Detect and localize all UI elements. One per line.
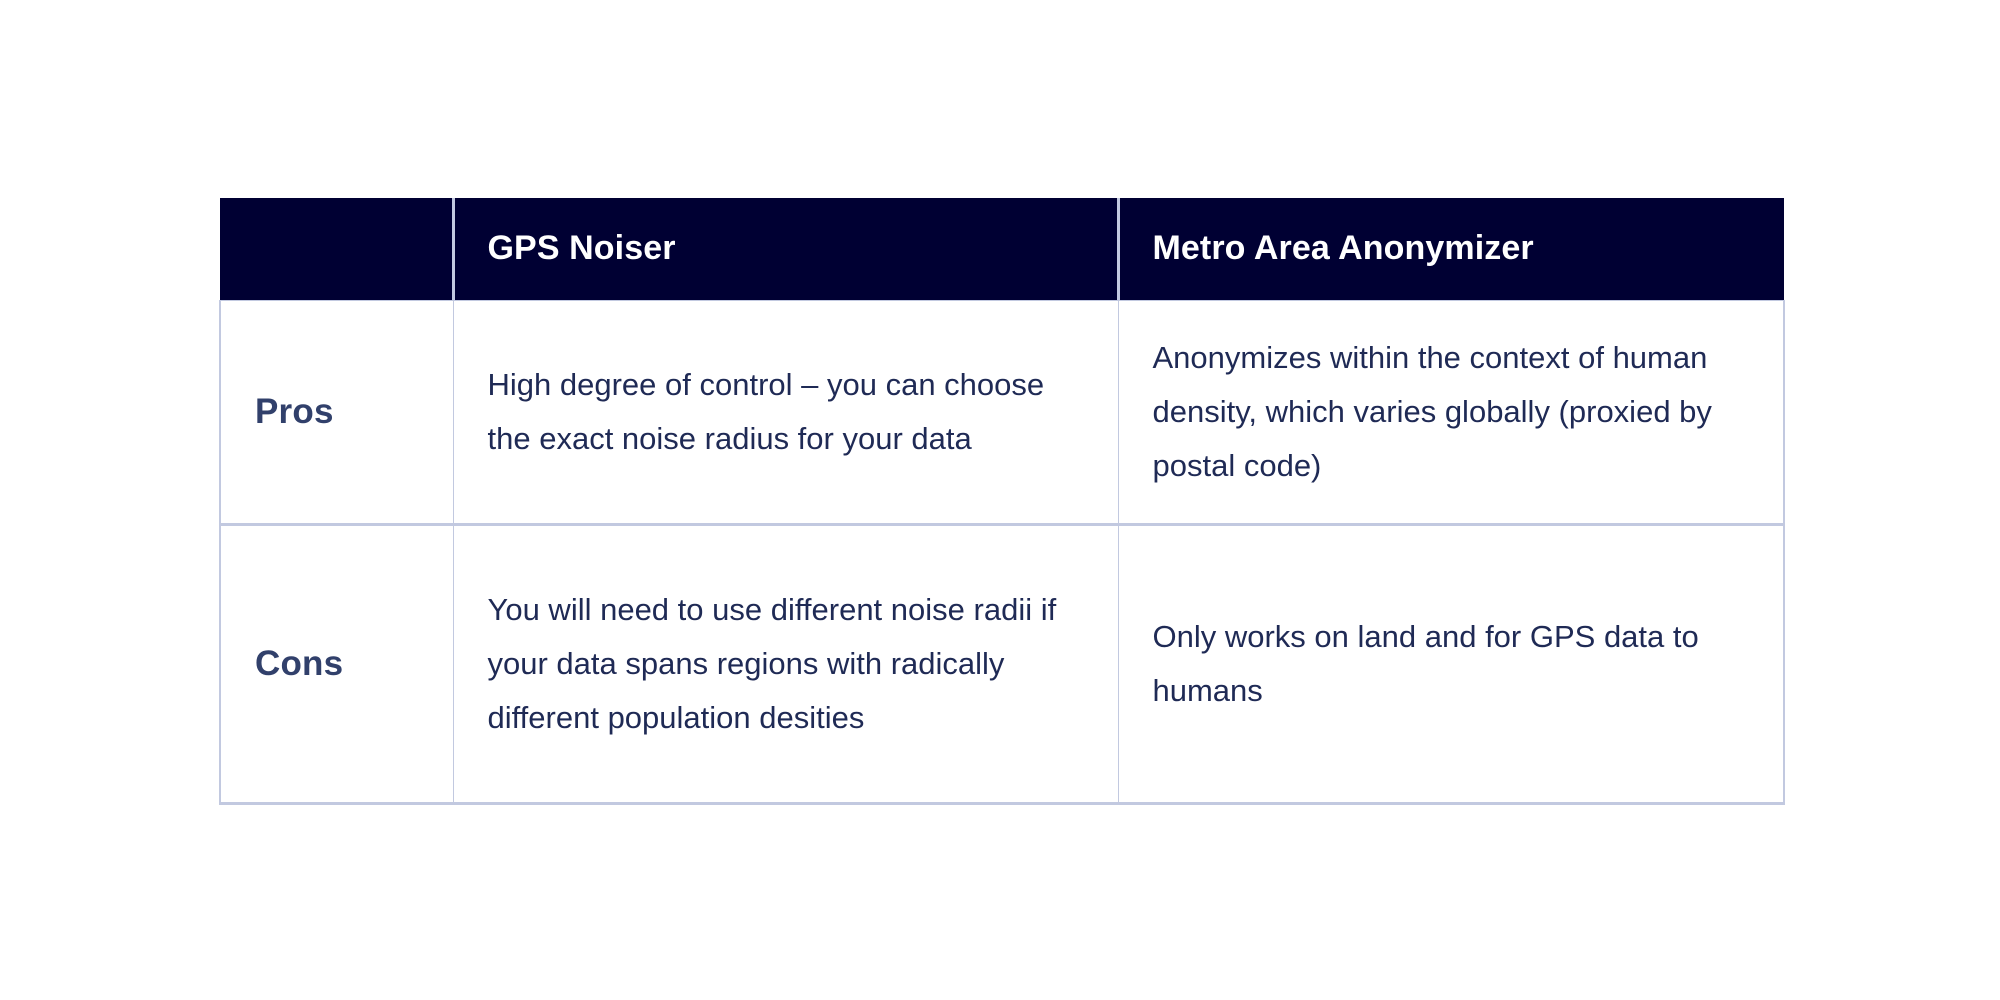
row-label-pros: Pros <box>255 392 453 432</box>
column-header-gps-noiser: GPS Noiser <box>453 198 1118 300</box>
cell-text-cons-gps-noiser: You will need to use different noise rad… <box>454 583 1118 745</box>
table-row-pros: Pros High degree of control – you can ch… <box>220 300 1784 524</box>
cell-text-pros-gps-noiser: High degree of control – you can choose … <box>454 358 1118 466</box>
cell-pros-gps-noiser: High degree of control – you can choose … <box>453 300 1118 524</box>
cell-text-pros-metro-area-anonymizer: Anonymizes within the context of human d… <box>1119 331 1784 493</box>
page-canvas: GPS Noiser Metro Area Anonymizer Pros Hi… <box>0 0 2000 1000</box>
table-header-row: GPS Noiser Metro Area Anonymizer <box>220 198 1784 300</box>
comparison-table: GPS Noiser Metro Area Anonymizer Pros Hi… <box>219 198 1785 805</box>
row-label-cell-cons: Cons <box>220 524 453 803</box>
table-row-cons: Cons You will need to use different nois… <box>220 524 1784 803</box>
cell-pros-metro-area-anonymizer: Anonymizes within the context of human d… <box>1118 300 1784 524</box>
table-body: Pros High degree of control – you can ch… <box>220 300 1784 803</box>
header-corner-cell <box>220 198 453 300</box>
cell-text-cons-metro-area-anonymizer: Only works on land and for GPS data to h… <box>1119 610 1784 718</box>
row-label-cell-pros: Pros <box>220 300 453 524</box>
cell-cons-metro-area-anonymizer: Only works on land and for GPS data to h… <box>1118 524 1784 803</box>
table-head: GPS Noiser Metro Area Anonymizer <box>220 198 1784 300</box>
column-header-metro-area-anonymizer: Metro Area Anonymizer <box>1118 198 1784 300</box>
row-label-cons: Cons <box>255 644 453 684</box>
cell-cons-gps-noiser: You will need to use different noise rad… <box>453 524 1118 803</box>
